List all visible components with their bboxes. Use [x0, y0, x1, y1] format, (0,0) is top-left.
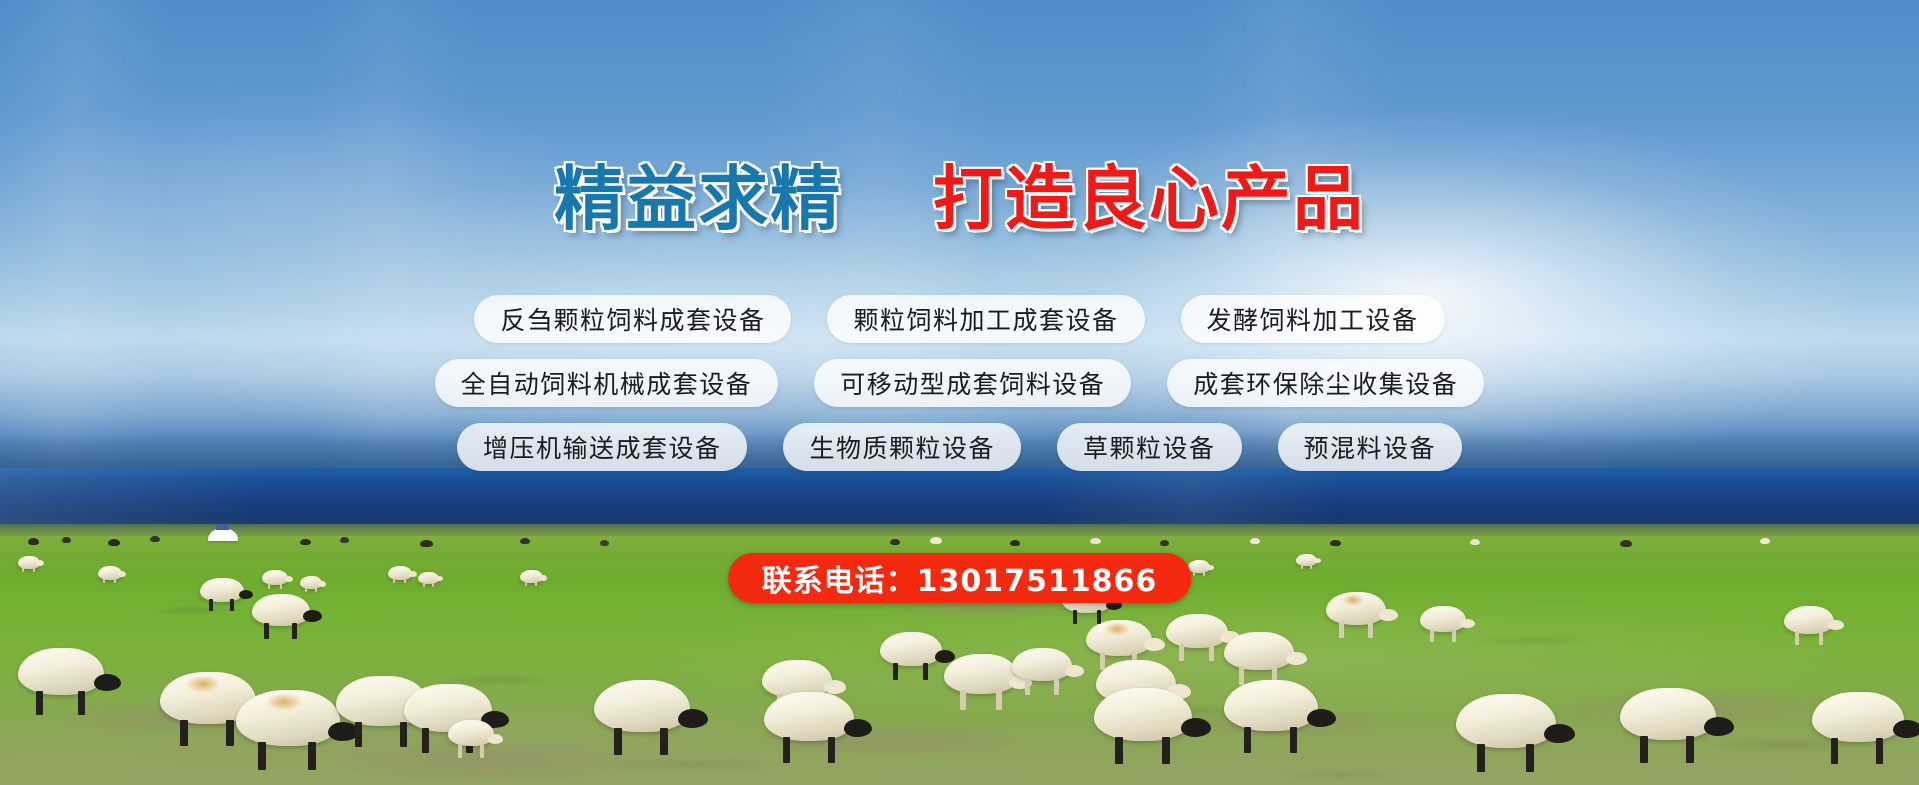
- contact-phone-text: 联系电话：13017511866: [762, 556, 1158, 600]
- product-category-row-1: 反刍颗粒饲料成套设备 颗粒饲料加工成套设备 发酵饲料加工设备: [0, 295, 1919, 343]
- product-pill-huanbao-chuchen[interactable]: 成套环保除尘收集设备: [1167, 359, 1484, 407]
- banner-content-overlay: 精益求精 打造良心产品 反刍颗粒饲料成套设备 颗粒饲料加工成套设备 发酵饲料加工…: [0, 0, 1919, 785]
- product-pill-shengwuzhi-keli[interactable]: 生物质颗粒设备: [783, 423, 1021, 471]
- product-pill-fajiao-siliao[interactable]: 发酵饲料加工设备: [1181, 295, 1445, 343]
- product-pill-cao-keli[interactable]: 草颗粒设备: [1057, 423, 1242, 471]
- product-pill-keyidong-siliao[interactable]: 可移动型成套饲料设备: [814, 359, 1131, 407]
- product-pill-zengyaji-shusong[interactable]: 增压机输送成套设备: [457, 423, 748, 471]
- product-pill-yuhunliao[interactable]: 预混料设备: [1278, 423, 1463, 471]
- product-category-row-3: 增压机输送成套设备 生物质颗粒设备 草颗粒设备 预混料设备: [0, 423, 1919, 471]
- contact-phone-banner[interactable]: 联系电话：13017511866: [728, 553, 1192, 603]
- product-pill-keli-siliao-jiagong[interactable]: 颗粒饲料加工成套设备: [827, 295, 1144, 343]
- product-pill-quanzidong-siliao[interactable]: 全自动饲料机械成套设备: [435, 359, 779, 407]
- product-category-row-2: 全自动饲料机械成套设备 可移动型成套饲料设备 成套环保除尘收集设备: [0, 359, 1919, 407]
- headline-blue-text: 精益求精: [554, 158, 842, 240]
- headline-red-text: 打造良心产品: [933, 158, 1365, 240]
- product-category-list: 反刍颗粒饲料成套设备 颗粒饲料加工成套设备 发酵饲料加工设备 全自动饲料机械成套…: [0, 295, 1919, 487]
- product-pill-fanchu-keli[interactable]: 反刍颗粒饲料成套设备: [474, 295, 791, 343]
- hero-banner: 精益求精 打造良心产品 反刍颗粒饲料成套设备 颗粒饲料加工成套设备 发酵饲料加工…: [0, 0, 1919, 785]
- page-title: 精益求精 打造良心产品: [0, 158, 1919, 240]
